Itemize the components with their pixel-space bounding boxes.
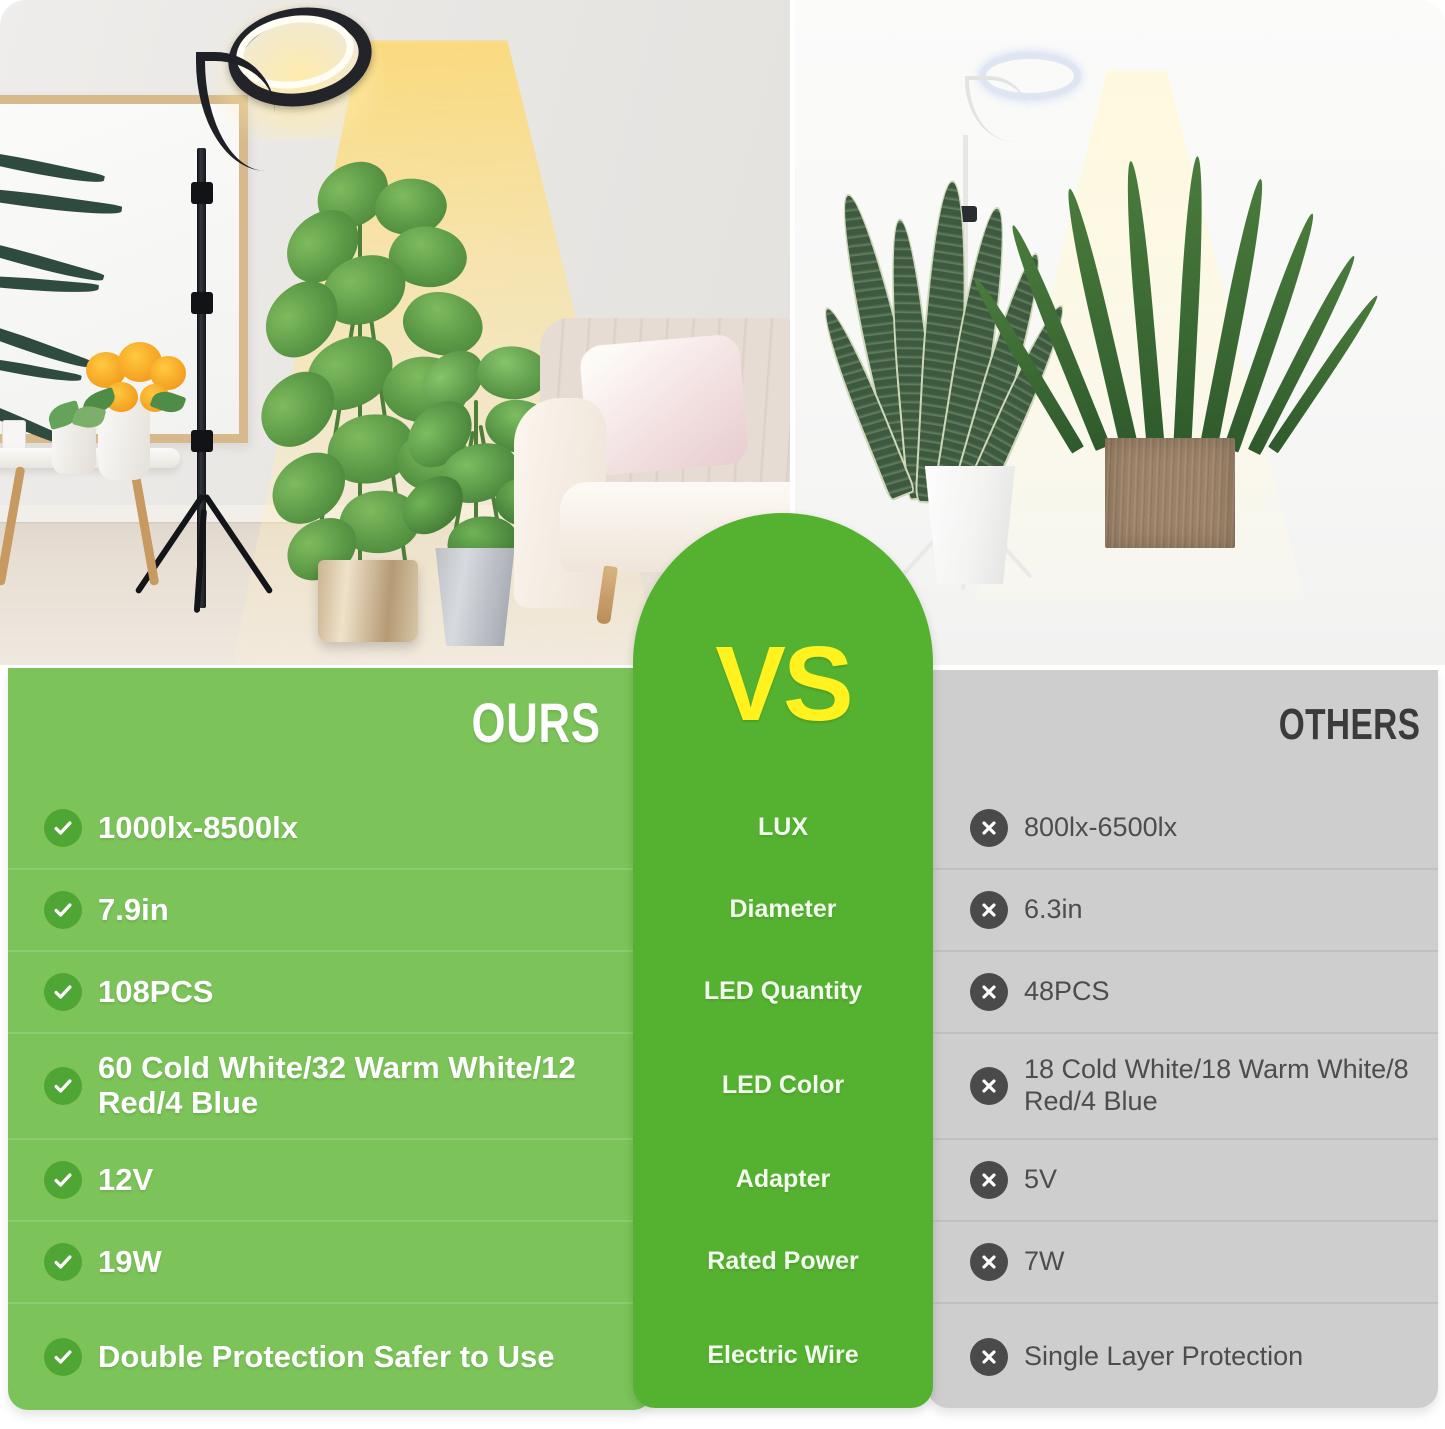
table-row: 18 Cold White/18 Warm White/8 Red/4 Blue bbox=[928, 1034, 1438, 1140]
check-icon bbox=[44, 973, 82, 1011]
ours-value: 1000lx-8500lx bbox=[98, 811, 298, 846]
others-value: 800lx-6500lx bbox=[1024, 812, 1177, 844]
table-row: 19W bbox=[8, 1222, 653, 1304]
x-icon bbox=[970, 1243, 1008, 1281]
feature-label: LUX bbox=[633, 786, 933, 868]
ours-header: OURS bbox=[472, 690, 601, 755]
x-icon bbox=[970, 809, 1008, 847]
feature-label: Adapter bbox=[633, 1138, 933, 1220]
ours-value: 60 Cold White/32 Warm White/12 Red/4 Blu… bbox=[98, 1051, 653, 1120]
check-icon bbox=[44, 891, 82, 929]
others-column: OTHERS 800lx-6500lx6.3in48PCS18 Cold Whi… bbox=[928, 670, 1438, 1408]
pole-clamp-upper bbox=[191, 182, 213, 204]
table-row: 48PCS bbox=[928, 952, 1438, 1034]
others-value: 6.3in bbox=[1024, 894, 1083, 926]
others-value: 48PCS bbox=[1024, 976, 1110, 1008]
table-row: 6.3in bbox=[928, 870, 1438, 952]
x-icon bbox=[970, 973, 1008, 1011]
others-value: Single Layer Protection bbox=[1024, 1341, 1303, 1373]
pole-clamp-lower bbox=[191, 430, 213, 452]
others-rows: 800lx-6500lx6.3in48PCS18 Cold White/18 W… bbox=[928, 788, 1438, 1408]
x-icon bbox=[970, 1338, 1008, 1376]
ours-value: 108PCS bbox=[98, 975, 213, 1010]
ours-value: 12V bbox=[98, 1163, 153, 1198]
feature-rows: LUXDiameterLED QuantityLED ColorAdapterR… bbox=[633, 786, 933, 1408]
table-row: 7W bbox=[928, 1222, 1438, 1304]
table-row: 108PCS bbox=[8, 952, 653, 1034]
check-icon bbox=[44, 1161, 82, 1199]
others-value: 7W bbox=[1024, 1246, 1065, 1278]
check-icon bbox=[44, 1067, 82, 1105]
ours-rows: 1000lx-8500lx7.9in108PCS60 Cold White/32… bbox=[8, 788, 653, 1410]
wooden-planter-box bbox=[1105, 438, 1235, 548]
others-value: 5V bbox=[1024, 1164, 1057, 1196]
ours-value: 19W bbox=[98, 1245, 162, 1280]
comparison-table: OURS 1000lx-8500lx7.9in108PCS60 Cold Whi… bbox=[0, 668, 1445, 1413]
infographic-canvas: OURS 1000lx-8500lx7.9in108PCS60 Cold Whi… bbox=[0, 0, 1445, 1429]
table-row: Double Protection Safer to Use bbox=[8, 1304, 653, 1410]
ours-value: 7.9in bbox=[98, 893, 169, 928]
table-row: Single Layer Protection bbox=[928, 1304, 1438, 1408]
x-icon bbox=[970, 1067, 1008, 1105]
table-row: 5V bbox=[928, 1140, 1438, 1222]
table-row: 1000lx-8500lx bbox=[8, 788, 653, 870]
ours-value: Double Protection Safer to Use bbox=[98, 1340, 554, 1375]
small-plant-vase bbox=[52, 424, 96, 474]
feature-label: LED Color bbox=[633, 1032, 933, 1138]
x-icon bbox=[970, 1161, 1008, 1199]
gold-planter bbox=[318, 560, 418, 642]
table-row: 7.9in bbox=[8, 870, 653, 952]
feature-label: Electric Wire bbox=[633, 1302, 933, 1408]
check-icon bbox=[44, 1338, 82, 1376]
ours-column: OURS 1000lx-8500lx7.9in108PCS60 Cold Whi… bbox=[8, 668, 653, 1410]
feature-label: LED Quantity bbox=[633, 950, 933, 1032]
feature-label: Diameter bbox=[633, 868, 933, 950]
check-icon bbox=[44, 809, 82, 847]
pole-clamp-mid bbox=[191, 292, 213, 314]
table-row: 12V bbox=[8, 1140, 653, 1222]
table-row: 800lx-6500lx bbox=[928, 788, 1438, 870]
table-row: 60 Cold White/32 Warm White/12 Red/4 Blu… bbox=[8, 1034, 653, 1140]
vs-badge-label: VS bbox=[633, 631, 933, 737]
feature-column: VS LUXDiameterLED QuantityLED ColorAdapt… bbox=[633, 513, 933, 1408]
feature-label: Rated Power bbox=[633, 1220, 933, 1302]
others-header: OTHERS bbox=[1278, 700, 1420, 750]
check-icon bbox=[44, 1243, 82, 1281]
x-icon bbox=[970, 891, 1008, 929]
others-value: 18 Cold White/18 Warm White/8 Red/4 Blue bbox=[1024, 1054, 1438, 1118]
